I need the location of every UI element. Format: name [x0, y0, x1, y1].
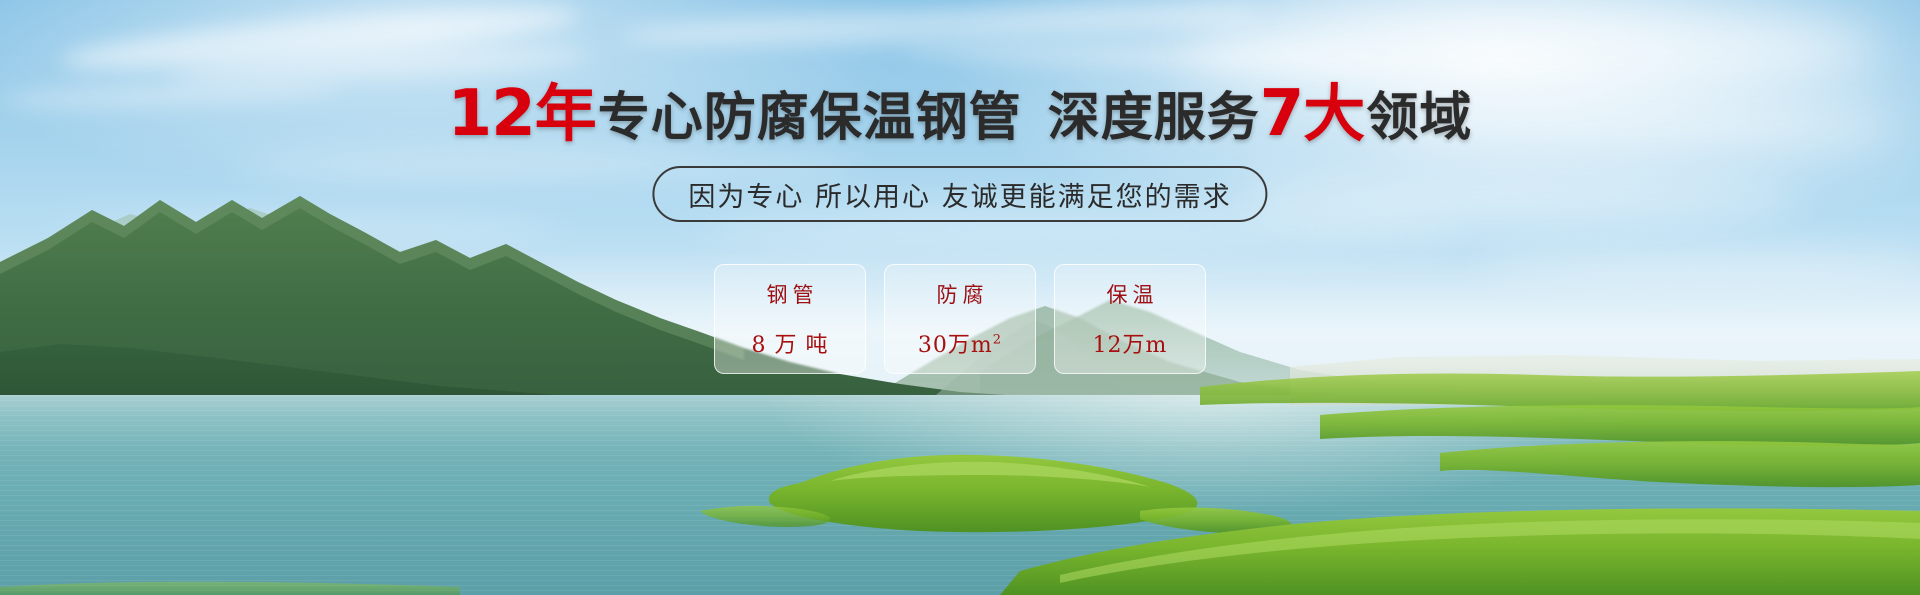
subtitle-pill: 因为专心 所以用心 友诚更能满足您的需求 — [652, 166, 1267, 222]
headline-part-one: 专心防腐保温钢管 — [598, 88, 1022, 148]
stat-value-main: 8 万 吨 — [752, 333, 829, 358]
stat-value-main: 30万m — [918, 333, 993, 358]
stat-card-value: 8 万 吨 — [752, 327, 829, 359]
stat-card-caption: 钢管 — [762, 279, 819, 309]
stat-card-caption: 保温 — [1102, 279, 1159, 309]
headline-highlight-unit: 大 — [1303, 77, 1366, 150]
grass-shoreline — [0, 335, 1920, 595]
headline-part-two: 深度服务 — [1048, 88, 1260, 148]
stat-card-caption: 防腐 — [932, 279, 989, 309]
stat-card-group: 钢管 8 万 吨 防腐 30万m2 保温 12万m — [714, 264, 1206, 374]
stat-card-value: 30万m2 — [918, 327, 1002, 359]
page-headline: 12年专心防腐保温钢管深度服务7大领域 — [0, 84, 1920, 148]
headline-part-three: 领域 — [1366, 88, 1472, 148]
stat-card-steel-pipe[interactable]: 钢管 8 万 吨 — [714, 264, 866, 374]
headline-years-unit: 年 — [535, 77, 598, 150]
hero-banner: 12年专心防腐保温钢管深度服务7大领域 因为专心 所以用心 友诚更能满足您的需求… — [0, 0, 1920, 595]
subtitle-text: 因为专心 所以用心 友诚更能满足您的需求 — [688, 175, 1231, 214]
headline-highlight-number: 7 — [1260, 77, 1304, 151]
stat-card-value: 12万m — [1093, 327, 1168, 359]
stat-card-anticorrosion[interactable]: 防腐 30万m2 — [884, 264, 1036, 374]
headline-years-number: 12 — [448, 77, 535, 151]
stat-value-main: 12万m — [1093, 333, 1168, 358]
stat-card-insulation[interactable]: 保温 12万m — [1054, 264, 1206, 374]
stat-value-superscript: 2 — [993, 333, 1002, 348]
